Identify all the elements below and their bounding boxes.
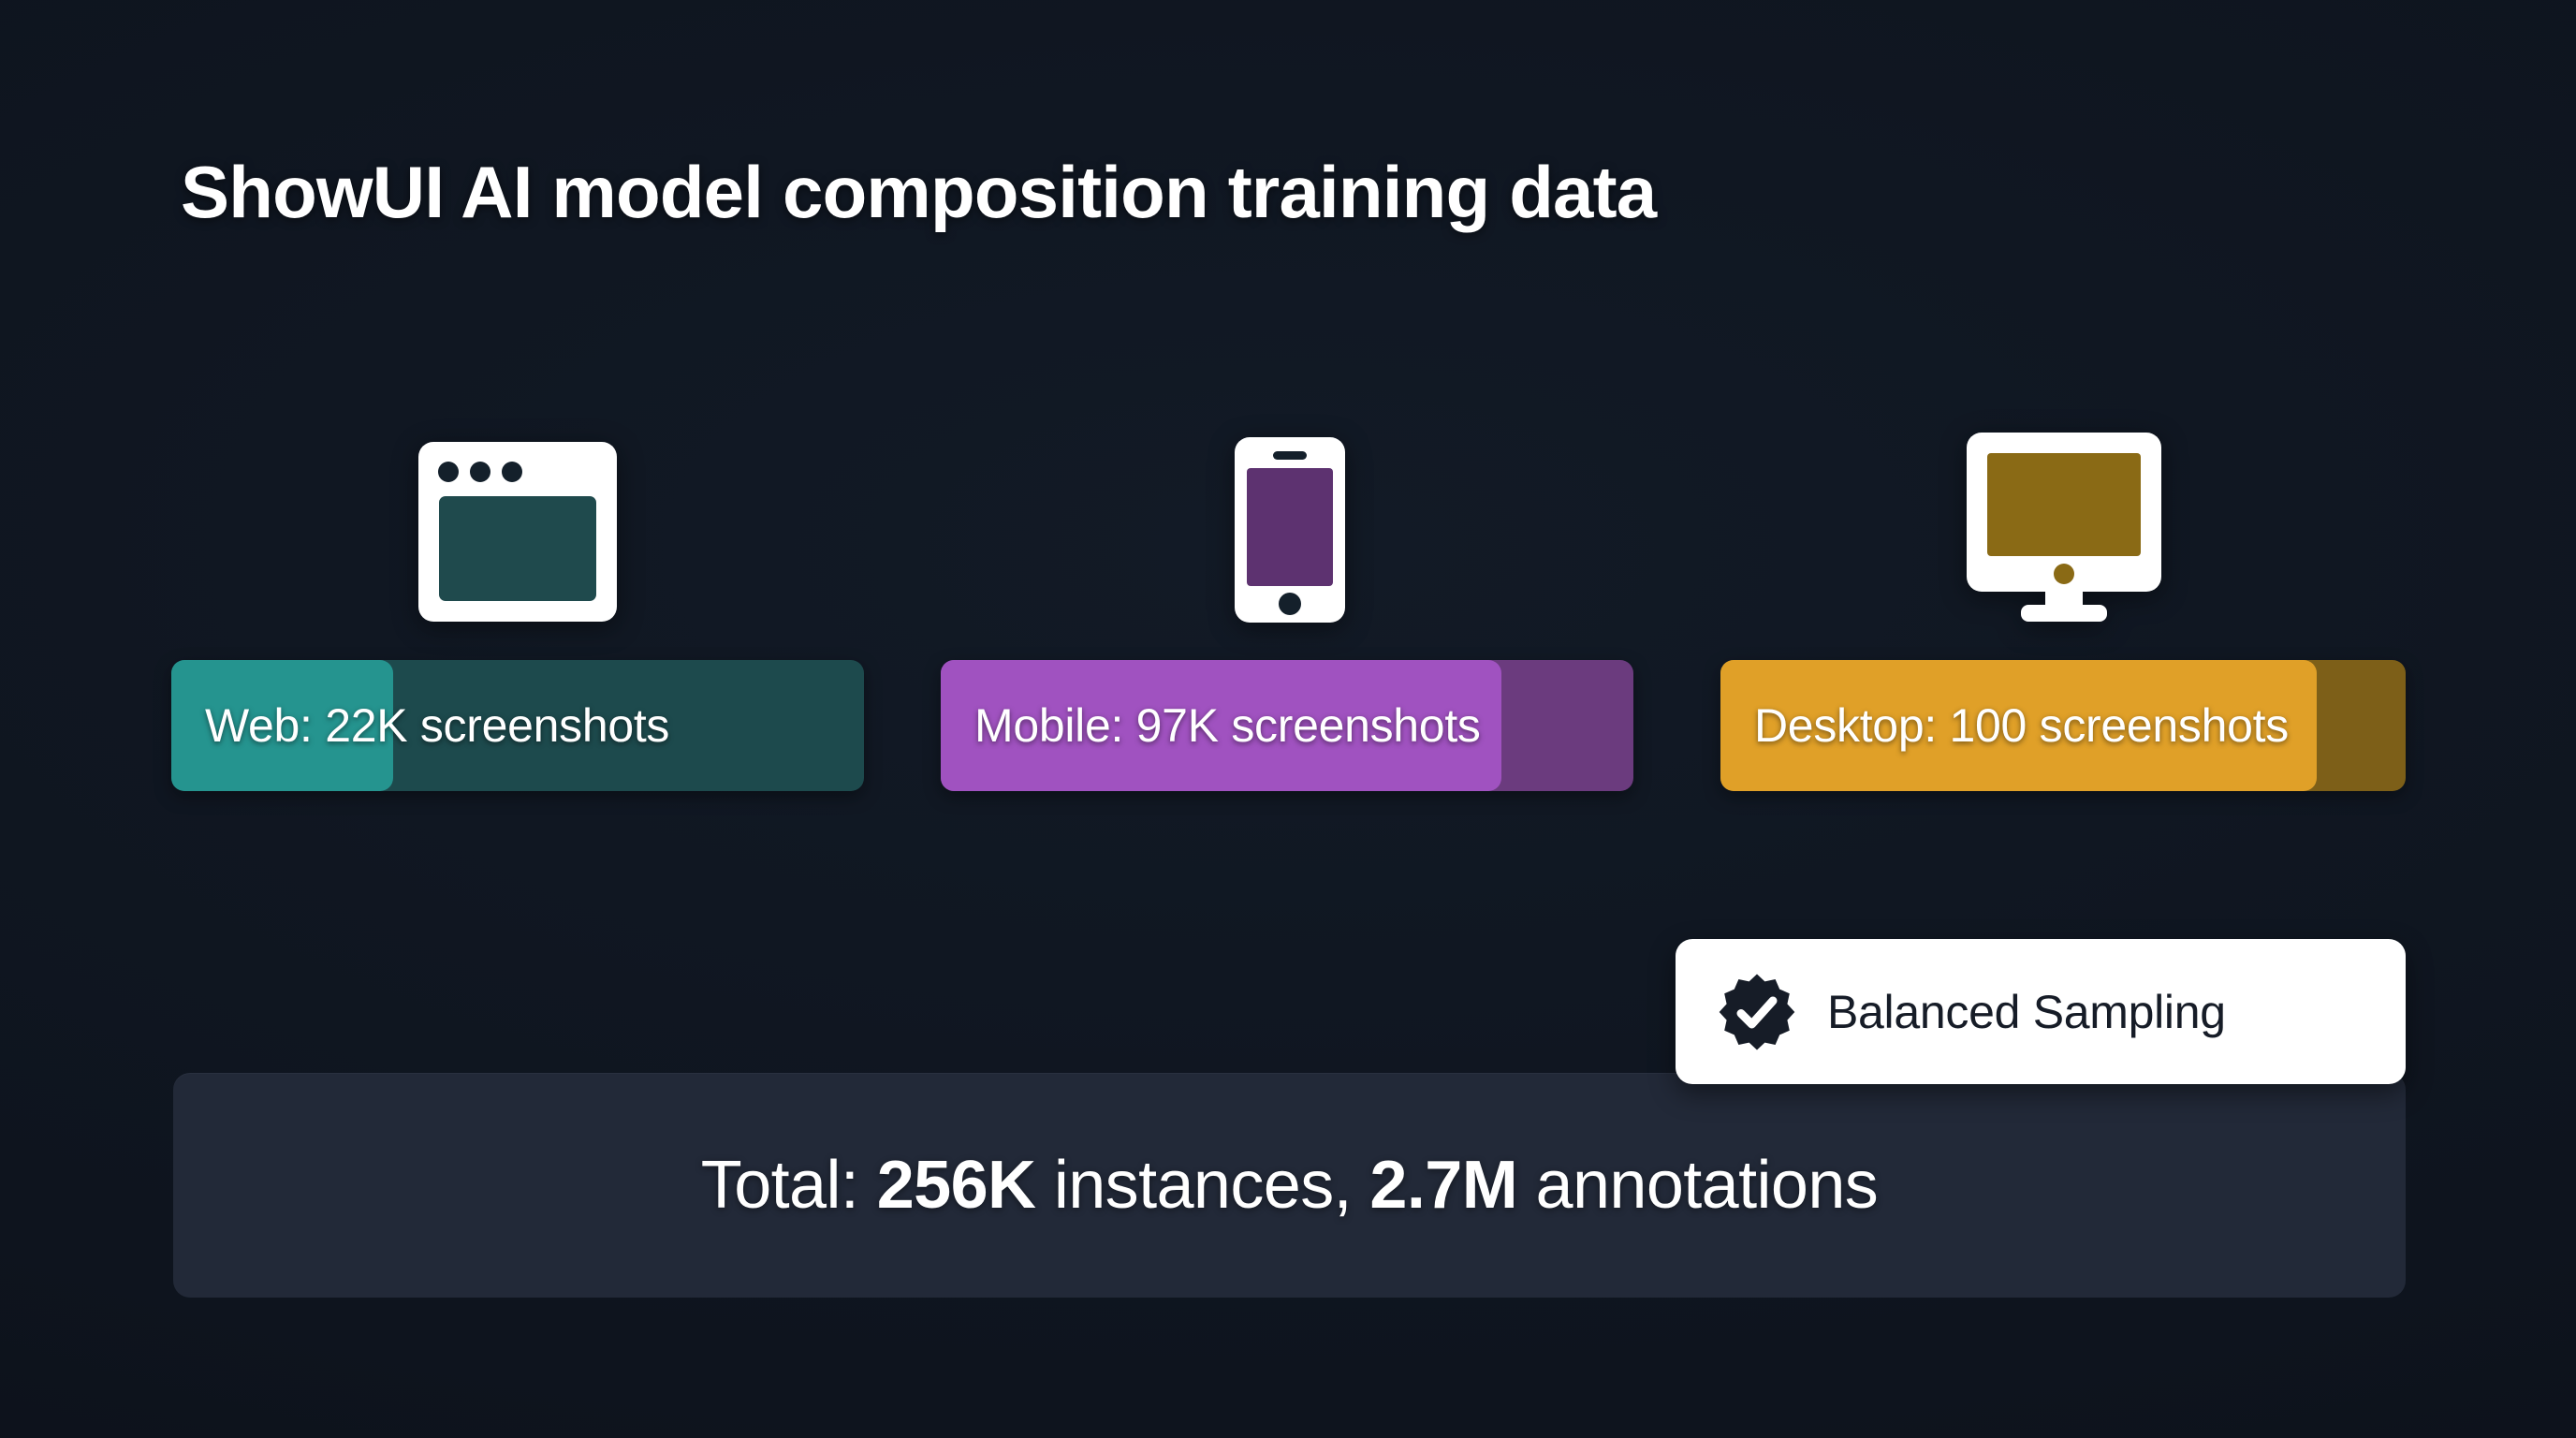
platform-bar-desktop[interactable]: Desktop: 100 screenshots (1720, 660, 2406, 791)
total-annotations-suffix: annotations (1517, 1148, 1878, 1223)
infographic-canvas: ShowUI AI model composition training dat… (0, 0, 2576, 1438)
smartphone-icon (1232, 434, 1348, 625)
device-icon-row (0, 419, 2576, 625)
total-annotations-value: 2.7M (1369, 1148, 1517, 1223)
balanced-sampling-badge[interactable]: Balanced Sampling (1676, 939, 2406, 1084)
page-title: ShowUI AI model composition training dat… (181, 153, 1656, 231)
bar-label-desktop: Desktop: 100 screenshots (1754, 660, 2289, 791)
monitor-icon (1963, 429, 2165, 625)
verified-check-icon (1717, 972, 1797, 1052)
device-icon-web (377, 419, 658, 625)
bar-label-web: Web: 22K screenshots (205, 660, 669, 791)
device-icon-mobile (1149, 419, 1430, 625)
device-icon-desktop (1924, 419, 2204, 625)
total-text: Total: 256K instances, 2.7M annotations (701, 1147, 1878, 1224)
bar-label-mobile: Mobile: 97K screenshots (974, 660, 1481, 791)
platform-bar-mobile[interactable]: Mobile: 97K screenshots (941, 660, 1633, 791)
platform-bar-list: Web: 22K screenshots Mobile: 97K screens… (0, 660, 2576, 796)
platform-bar-web[interactable]: Web: 22K screenshots (171, 660, 864, 791)
total-instances-value: 256K (877, 1148, 1036, 1223)
browser-window-icon (415, 438, 621, 625)
total-instances-suffix: instances, (1035, 1148, 1369, 1223)
balanced-sampling-label: Balanced Sampling (1827, 985, 2226, 1039)
total-prefix: Total: (701, 1148, 877, 1223)
total-banner: Total: 256K instances, 2.7M annotations (173, 1073, 2406, 1298)
